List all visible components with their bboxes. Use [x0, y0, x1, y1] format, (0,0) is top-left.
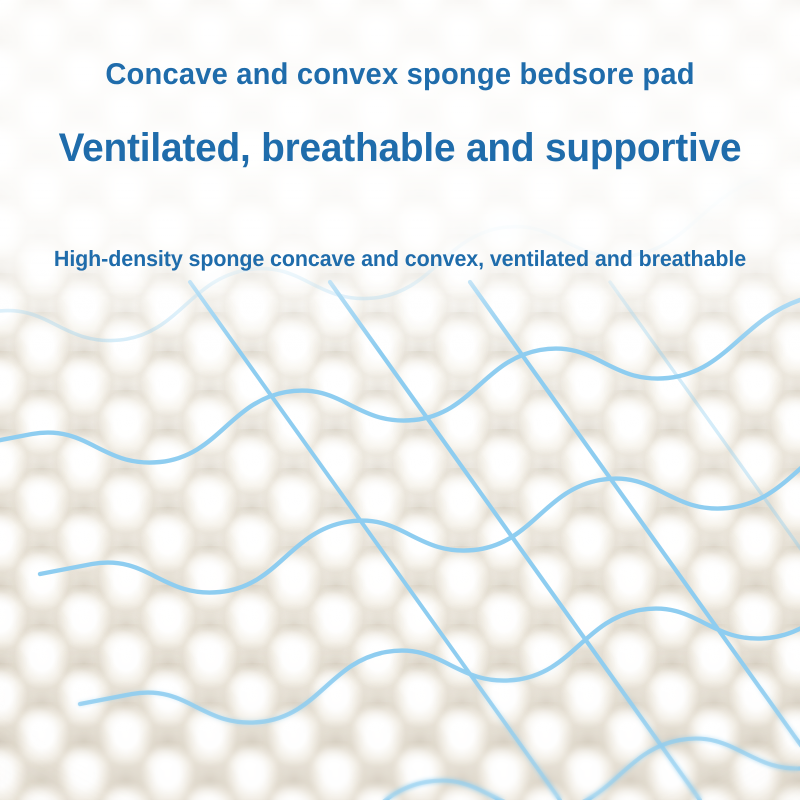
blue-thread-lattice	[0, 0, 800, 800]
headline-secondary: Ventilated, breathable and supportive	[12, 128, 788, 168]
depth-of-field-bottom	[0, 650, 800, 800]
headline-subtitle: High-density sponge concave and convex, …	[10, 248, 790, 270]
thread-wave-4	[300, 690, 800, 800]
thread-group-descending	[190, 282, 800, 800]
thread-wave-2	[40, 430, 800, 593]
headline-haze-overlay	[0, 0, 800, 800]
foam-peaks-texture	[0, 0, 800, 800]
product-banner: Concave and convex sponge bedsore pad Ve…	[0, 0, 800, 800]
thread-diagonal-4	[610, 282, 800, 800]
thread-group-wavy	[0, 178, 800, 800]
thread-diagonal-2	[470, 282, 800, 800]
thread-wave-3	[80, 560, 800, 723]
foam-valleys-shadow	[0, 0, 800, 800]
vignette-overlay	[0, 0, 800, 800]
foam-peak-highlights	[0, 0, 800, 800]
thread-diagonal-1	[330, 282, 700, 800]
thread-wave-1	[0, 300, 800, 463]
foam-base-wash	[0, 0, 800, 800]
headline-primary: Concave and convex sponge bedsore pad	[12, 60, 788, 90]
thread-diagonal-3	[190, 282, 560, 800]
